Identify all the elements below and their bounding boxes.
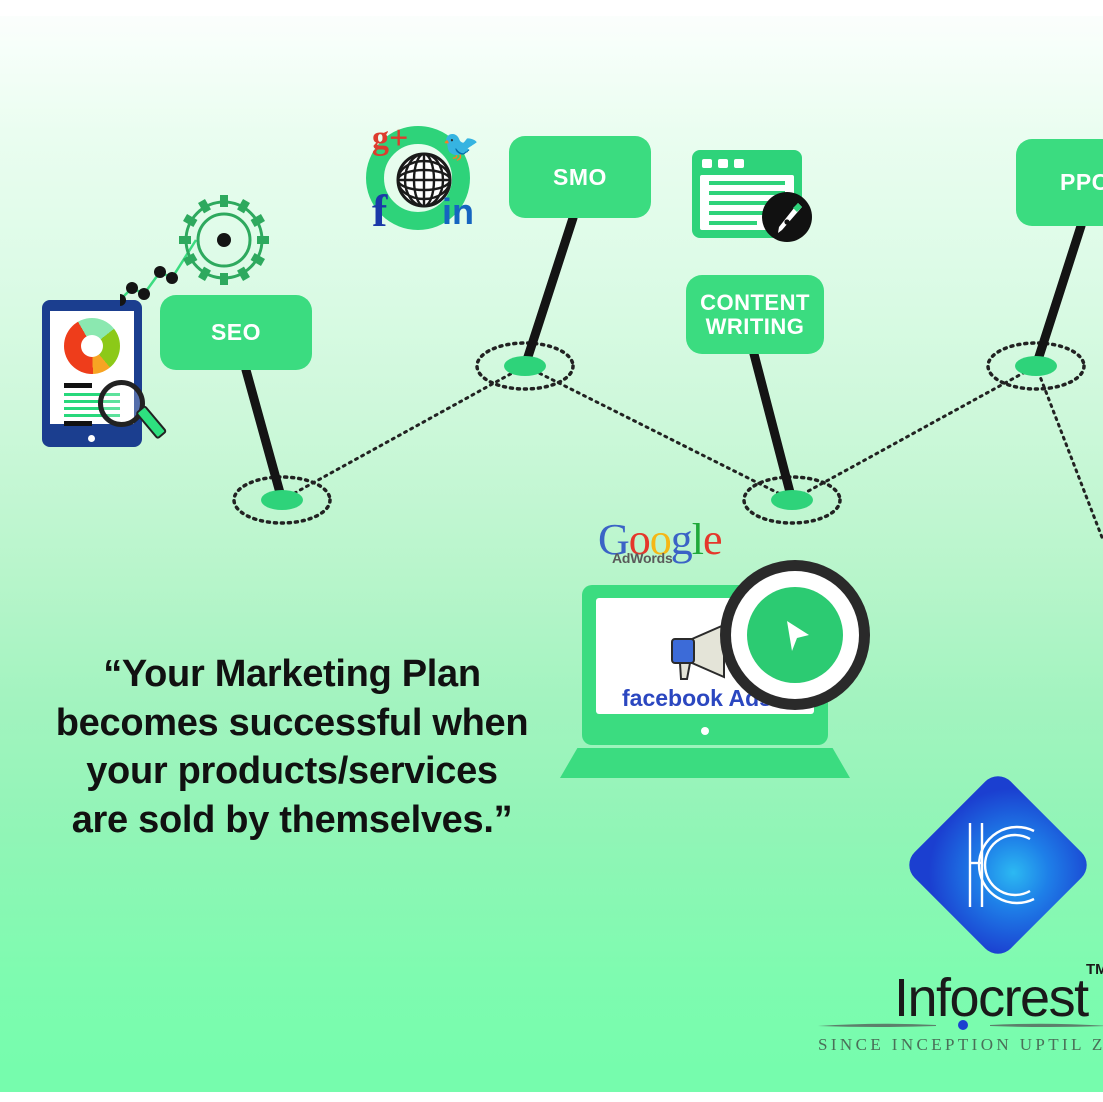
infocrest-logo-diamond	[898, 765, 1098, 965]
node-ring-content	[744, 477, 840, 523]
magnifier-icon	[98, 380, 145, 427]
content-writing-icon	[692, 150, 810, 250]
tablet-text-line	[64, 383, 92, 388]
laptop-camera-dot	[701, 727, 709, 735]
brand-block: Infocrest TM SINCE INCEPTION UPTIL Z	[880, 765, 1103, 1085]
cursor-ring-green	[747, 587, 843, 683]
social-media-ring-icon: g+ 🐦 f in	[360, 120, 488, 248]
service-label-seo: SEO	[211, 320, 261, 345]
service-box-ppc[interactable]: PPC	[1016, 139, 1103, 226]
node-dot-ppc	[1015, 356, 1057, 376]
window-dot	[718, 159, 728, 168]
service-label-smo: SMO	[553, 165, 607, 190]
content-text-line	[709, 221, 757, 225]
node-ring-seo	[234, 477, 330, 523]
twitter-icon: 🐦	[442, 132, 479, 162]
window-dot	[734, 159, 744, 168]
node-ring-smo	[477, 343, 573, 389]
top-white-margin	[0, 0, 1103, 16]
service-label-content-writing: CONTENT WRITING	[700, 291, 810, 339]
pole-seo	[246, 370, 282, 500]
quote-line-4: are sold by themselves.”	[22, 796, 562, 845]
network-connector-path	[282, 366, 1103, 540]
quote-line-3: your products/services	[22, 747, 562, 796]
magnifier-handle	[135, 405, 167, 440]
brand-tagline: SINCE INCEPTION UPTIL Z	[818, 1035, 1103, 1055]
content-writing-line2: WRITING	[706, 314, 805, 339]
tablet-home-button	[88, 435, 95, 442]
cursor-ring-white	[731, 571, 859, 699]
gear-icon	[179, 195, 269, 285]
content-writing-line1: CONTENT	[700, 290, 810, 315]
service-box-smo[interactable]: SMO	[509, 136, 651, 218]
laptop-base	[560, 748, 850, 778]
facebook-icon: f	[372, 188, 387, 234]
google-letter-l: l	[692, 515, 703, 564]
node-ring-ppc	[988, 343, 1084, 389]
google-letter-g: g	[671, 515, 692, 564]
pen-nib-icon	[762, 192, 812, 242]
google-plus-icon: g+	[372, 122, 408, 156]
brand-trademark: TM	[1086, 961, 1103, 978]
infographic-poster: SEO SMO CONTENT WRITING PPC	[0, 0, 1103, 1102]
bottom-white-margin	[0, 1092, 1103, 1102]
cursor-arrow-icon	[773, 613, 817, 657]
quote-line-2: becomes successful when	[22, 699, 562, 748]
node-dot-content	[771, 490, 813, 510]
marketing-quote: “Your Marketing Plan becomes successful …	[22, 650, 562, 845]
adwords-subtitle: AdWords	[612, 550, 673, 566]
window-dot	[702, 159, 712, 168]
tablet-text-line	[64, 421, 92, 426]
google-letter-e: e	[703, 515, 722, 564]
google-adwords-logo: Google AdWords	[598, 518, 728, 570]
node-dot-seo	[261, 490, 303, 510]
pole-ppc	[1036, 226, 1081, 366]
donut-chart-icon	[64, 318, 120, 374]
tablet-analytics-icon	[42, 300, 142, 447]
service-box-content-writing[interactable]: CONTENT WRITING	[686, 275, 824, 354]
node-dot-smo	[504, 356, 546, 376]
brand-divider	[818, 1020, 1103, 1030]
pole-smo	[525, 218, 573, 366]
content-text-line	[709, 181, 785, 185]
linkedin-icon: in	[442, 194, 474, 230]
cursor-badge[interactable]	[720, 560, 870, 710]
quote-line-1: “Your Marketing Plan	[22, 650, 562, 699]
service-label-ppc: PPC	[1060, 170, 1103, 195]
pole-content	[754, 354, 792, 500]
gear-trend-group	[120, 188, 290, 313]
